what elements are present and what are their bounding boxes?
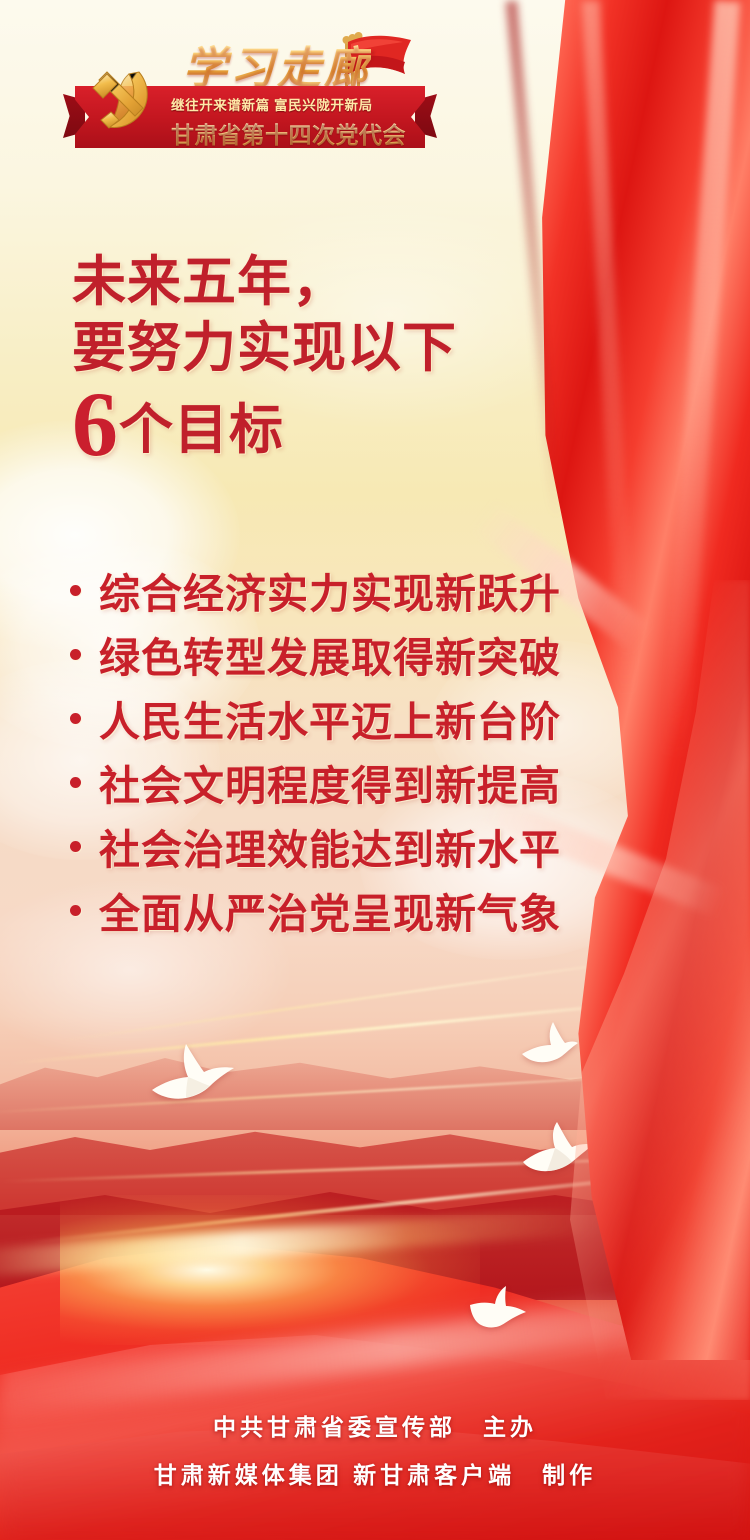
headline-line-3: 6 个目标: [72, 381, 592, 468]
dove-icon: [518, 1020, 580, 1068]
poster-canvas: 学习走廊: [0, 0, 750, 1540]
bullet-icon: [70, 841, 81, 852]
silk-gleam: [0, 1277, 750, 1424]
header-badge: 学习走廊: [75, 28, 425, 153]
footer-line-2: 甘肃新媒体集团 新甘肃客户端 制作: [0, 1456, 750, 1490]
goal-text: 绿色转型发展取得新突破: [99, 624, 561, 684]
goal-list: 综合经济实力实现新跃升 绿色转型发展取得新突破 人民生活水平迈上新台阶 社会文明…: [70, 558, 630, 942]
light-streak-icon: [60, 951, 694, 1042]
list-item: 全面从严治党呈现新气象: [70, 878, 630, 942]
goal-text: 社会文明程度得到新提高: [99, 752, 561, 812]
goal-text: 全面从严治党呈现新气象: [99, 880, 561, 940]
list-item: 绿色转型发展取得新突破: [70, 622, 630, 686]
footer-credits: 中共甘肃省委宣传部 主办 甘肃新媒体集团 新甘肃客户端 制作: [0, 1408, 750, 1490]
headline-line-2: 要努力实现以下: [72, 318, 592, 378]
goal-count-suffix: 个目标: [119, 400, 284, 468]
goal-text: 人民生活水平迈上新台阶: [99, 688, 561, 748]
list-item: 人民生活水平迈上新台阶: [70, 686, 630, 750]
goal-count-number: 6: [72, 381, 119, 468]
light-streak-icon: [10, 995, 707, 1065]
bullet-icon: [70, 777, 81, 788]
light-streak-icon: [30, 1167, 727, 1244]
light-streak-icon: [0, 1070, 739, 1114]
dove-icon: [467, 1283, 529, 1333]
footer-line-1: 中共甘肃省委宣传部 主办: [0, 1408, 750, 1442]
conference-name: 甘肃省第十四次党代会: [171, 116, 417, 150]
bullet-icon: [70, 905, 81, 916]
list-item: 社会治理效能达到新水平: [70, 814, 630, 878]
bullet-icon: [70, 713, 81, 724]
dove-icon: [590, 1095, 632, 1129]
light-streak-icon: [0, 1153, 750, 1183]
headline-line-1: 未来五年，: [72, 252, 592, 312]
dove-icon: [519, 1120, 595, 1178]
curtain-fold: [662, 0, 741, 760]
mountain-ridge-icon: [0, 1150, 750, 1300]
sun-ray-icon: [0, 1206, 600, 1279]
headline-block: 未来五年， 要努力实现以下 6 个目标: [72, 252, 592, 468]
list-item: 综合经济实力实现新跃升: [70, 558, 630, 622]
sunburst-icon: [60, 1195, 480, 1345]
bullet-icon: [70, 649, 81, 660]
conference-slogan: 继往开来谱新篇 富民兴陇开新局: [171, 94, 417, 114]
goal-text: 社会治理效能达到新水平: [99, 816, 561, 876]
dove-icon: [146, 1038, 242, 1108]
bullet-icon: [70, 585, 81, 596]
list-item: 社会文明程度得到新提高: [70, 750, 630, 814]
red-silk-wave: [0, 1215, 750, 1540]
hammer-and-sickle-icon: [81, 58, 165, 142]
mountain-ridge-icon: [0, 1010, 750, 1130]
mountain-ridge-icon: [0, 1085, 750, 1215]
goal-text: 综合经济实力实现新跃升: [99, 560, 561, 620]
